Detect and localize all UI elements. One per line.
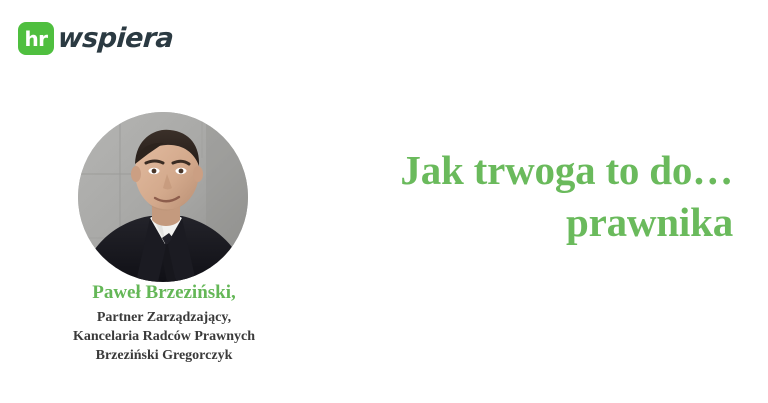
slide-canvas: hr wspiera <box>0 0 768 403</box>
brand-logo[interactable]: hr wspiera <box>18 22 173 55</box>
speaker-name: Paweł Brzeziński, <box>18 281 310 305</box>
portrait-photo-image <box>78 112 248 282</box>
speaker-role-line-1: Partner Zarządzający, <box>18 308 310 327</box>
hr-badge-icon: hr <box>18 22 54 55</box>
speaker-role-line-2: Kancelaria Radców Prawnych <box>18 327 310 346</box>
hr-badge-label: hr <box>24 29 47 49</box>
speaker-caption: Paweł Brzeziński, Partner Zarządzający, … <box>18 281 310 365</box>
brand-wordmark: wspiera <box>57 25 174 52</box>
speaker-avatar <box>78 112 248 282</box>
slide-title-line-1: Jak trwoga to do… <box>313 144 733 196</box>
speaker-role-line-3: Brzeziński Gregorczyk <box>18 346 310 365</box>
slide-title: Jak trwoga to do… prawnika <box>313 144 733 248</box>
slide-title-line-2: prawnika <box>313 196 733 248</box>
